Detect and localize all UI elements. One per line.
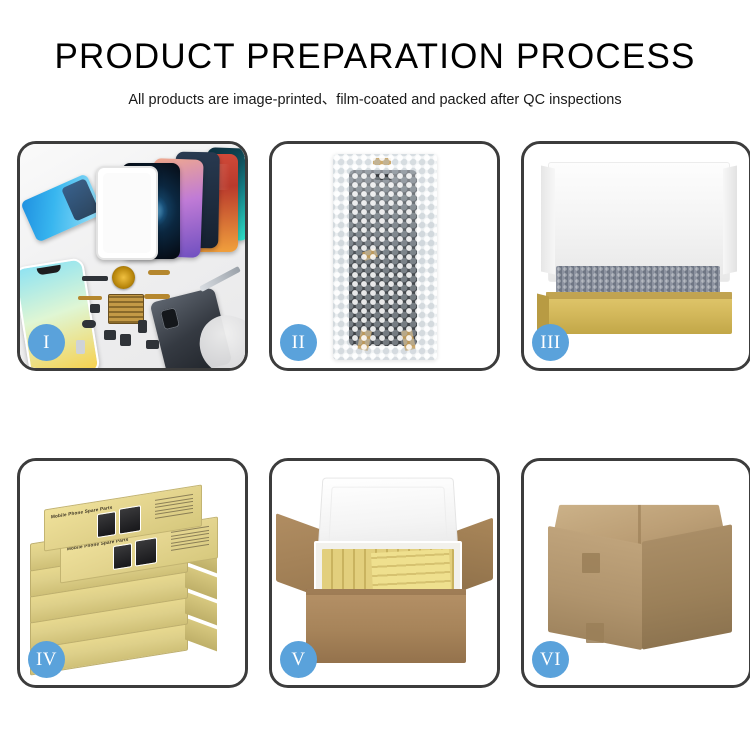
- process-step-4[interactable]: Mobile Phone Spare Parts Mobile Phone Sp…: [17, 458, 248, 688]
- page-subtitle: All products are image-printed、film-coat…: [0, 88, 750, 109]
- infographic-page: PRODUCT PREPARATION PROCESS All products…: [0, 0, 750, 750]
- small-part-4: [104, 330, 116, 340]
- bubble-highlights: [333, 154, 437, 360]
- carton-body: [306, 589, 466, 663]
- flex-cable-2: [144, 294, 170, 299]
- speaker-coil-part: [112, 266, 135, 289]
- bubble-wrap-bag: [333, 154, 437, 360]
- small-part-6: [138, 320, 147, 333]
- process-step-6[interactable]: VI: [521, 458, 750, 688]
- box-artwork-2: [119, 505, 141, 534]
- step-badge-3: III: [532, 324, 569, 361]
- step-badge-4: IV: [28, 641, 65, 678]
- box-artwork-2: [135, 537, 157, 566]
- page-title: PRODUCT PREPARATION PROCESS: [0, 38, 750, 77]
- packed-boxes-row-2: [371, 549, 451, 593]
- small-part-2: [90, 304, 100, 313]
- box-artwork-1: [113, 543, 132, 570]
- process-step-2[interactable]: II: [269, 141, 500, 371]
- process-step-1[interactable]: I: [17, 141, 248, 371]
- step-badge-5: V: [280, 641, 317, 678]
- box-artwork-1: [97, 511, 116, 538]
- step-badge-1: I: [28, 324, 65, 361]
- step-badge-6: VI: [532, 641, 569, 678]
- kraft-box-base: [546, 292, 732, 334]
- box-stack: Mobile Phone Spare Parts Mobile Phone Sp…: [30, 485, 236, 675]
- small-part-7: [146, 340, 159, 349]
- carton-tape-lower: [586, 623, 604, 643]
- process-step-5[interactable]: V: [269, 458, 500, 688]
- carton-tape-upper: [582, 553, 600, 573]
- flex-cable-1: [148, 270, 170, 275]
- carton-right-face: [642, 524, 732, 649]
- process-grid: I II I: [17, 141, 733, 681]
- header: PRODUCT PREPARATION PROCESS All products…: [0, 0, 750, 109]
- small-part-8: [76, 340, 85, 354]
- box-lid-open: [548, 162, 730, 282]
- process-step-3[interactable]: III: [521, 141, 750, 371]
- small-part-1: [82, 276, 108, 281]
- flex-cable-3: [78, 296, 102, 300]
- small-part-5: [120, 334, 131, 346]
- step-badge-2: II: [280, 324, 317, 361]
- small-part-3: [82, 320, 96, 328]
- box-spec-lines: [155, 494, 193, 522]
- phone-white-frame: [96, 166, 158, 260]
